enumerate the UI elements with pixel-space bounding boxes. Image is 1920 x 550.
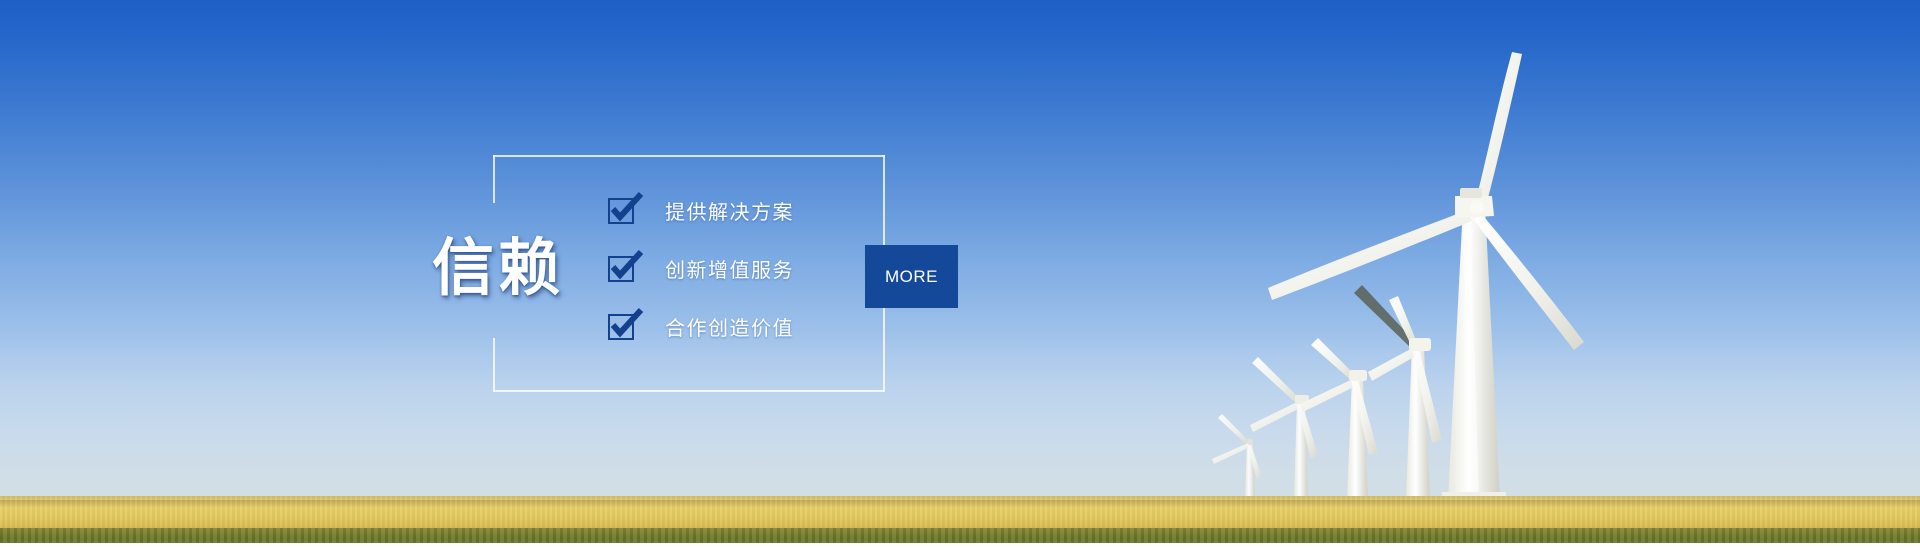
frame-border-bottom bbox=[493, 390, 885, 392]
headline-title: 信赖 bbox=[413, 232, 583, 304]
feature-checklist: 提供解决方案 创新增值服务 合作创造价值 bbox=[608, 196, 838, 341]
frame-border-left-upper bbox=[493, 155, 495, 203]
wind-turbine-group bbox=[0, 0, 1920, 550]
list-item-label: 创新增值服务 bbox=[665, 254, 794, 283]
checkbox-checked-icon bbox=[608, 256, 634, 282]
list-item: 提供解决方案 bbox=[608, 196, 838, 225]
bottom-white-edge bbox=[0, 543, 1920, 550]
list-item: 创新增值服务 bbox=[608, 254, 838, 283]
wind-turbine-medium bbox=[1300, 338, 1378, 500]
more-button[interactable]: MORE bbox=[865, 245, 958, 308]
grass-strip bbox=[0, 528, 1920, 544]
wind-turbine-distant bbox=[1354, 285, 1442, 500]
frame-border-top bbox=[493, 155, 885, 157]
frame-border-left-lower bbox=[493, 338, 495, 392]
list-item-label: 合作创造价值 bbox=[665, 312, 794, 341]
checkbox-checked-icon bbox=[608, 198, 634, 224]
hero-banner: 信赖 提供解决方案 创新增值服务 合 bbox=[0, 0, 1920, 550]
list-item-label: 提供解决方案 bbox=[665, 196, 794, 225]
checkbox-checked-icon bbox=[608, 314, 634, 340]
list-item: 合作创造价值 bbox=[608, 312, 838, 341]
field-dirt-patch bbox=[0, 500, 1920, 507]
wind-turbine-small-mid bbox=[1250, 357, 1318, 500]
